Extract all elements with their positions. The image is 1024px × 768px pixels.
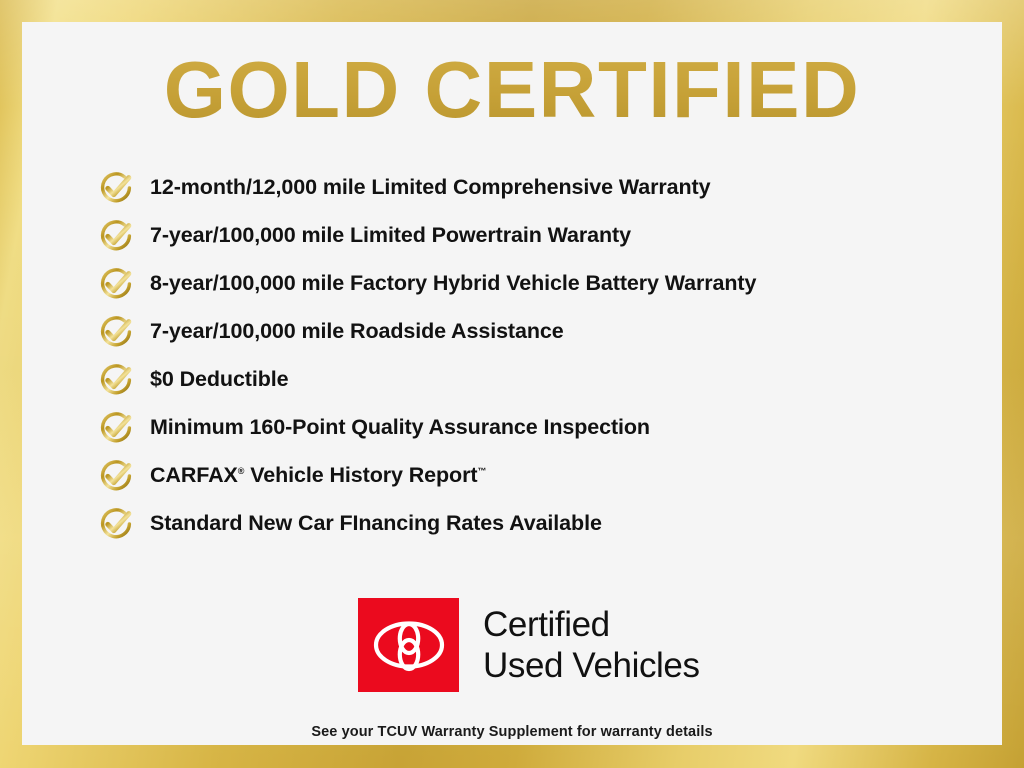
gold-check-circle-icon (96, 504, 150, 544)
warranty-disclaimer: See your TCUV Warranty Supplement for wa… (22, 724, 1002, 740)
list-item: Minimum 160-Point Quality Assurance Insp… (96, 404, 976, 452)
certificate-card: GOLD CERTIFIED (22, 22, 1002, 745)
benefit-label: Standard New Car FInancing Rates Availab… (150, 513, 602, 535)
logo-line-2: Used Vehicles (483, 645, 700, 686)
list-item: 7-year/100,000 mile Roadside Assistance (96, 308, 976, 356)
gold-check-circle-icon (96, 312, 150, 352)
logo-line-1: Certified (483, 604, 700, 645)
benefit-label: Minimum 160-Point Quality Assurance Insp… (150, 417, 650, 439)
benefit-label: 8-year/100,000 mile Factory Hybrid Vehic… (150, 273, 756, 295)
gold-check-circle-icon (96, 216, 150, 256)
page-title: GOLD CERTIFIED (22, 50, 1002, 130)
gold-check-circle-icon (96, 456, 150, 496)
toyota-emblem-icon (358, 598, 459, 692)
gold-check-circle-icon (96, 360, 150, 400)
list-item: 8-year/100,000 mile Factory Hybrid Vehic… (96, 260, 976, 308)
toyota-certified-used-vehicles-logo: Certified Used Vehicles (358, 598, 700, 692)
benefit-label: 7-year/100,000 mile Roadside Assistance (150, 321, 564, 343)
benefit-label: 7-year/100,000 mile Limited Powertrain W… (150, 225, 631, 247)
carfax-brand: CARFAX (150, 463, 238, 487)
gold-check-circle-icon (96, 168, 150, 208)
list-item: 7-year/100,000 mile Limited Powertrain W… (96, 212, 976, 260)
list-item: Standard New Car FInancing Rates Availab… (96, 500, 976, 548)
list-item: CARFAX® Vehicle History Report™ (96, 452, 976, 500)
gold-check-circle-icon (96, 264, 150, 304)
benefit-label: $0 Deductible (150, 369, 289, 391)
gold-border-frame: GOLD CERTIFIED (0, 0, 1024, 768)
benefit-label-carfax: CARFAX® Vehicle History Report™ (150, 465, 486, 487)
benefit-label: 12-month/12,000 mile Limited Comprehensi… (150, 177, 710, 199)
trademark-mark: ™ (477, 466, 486, 476)
carfax-product: Vehicle History Report (244, 463, 477, 487)
logo-wordmark: Certified Used Vehicles (483, 604, 700, 687)
list-item: $0 Deductible (96, 356, 976, 404)
gold-check-circle-icon (96, 408, 150, 448)
benefits-list: 12-month/12,000 mile Limited Comprehensi… (96, 164, 976, 548)
list-item: 12-month/12,000 mile Limited Comprehensi… (96, 164, 976, 212)
